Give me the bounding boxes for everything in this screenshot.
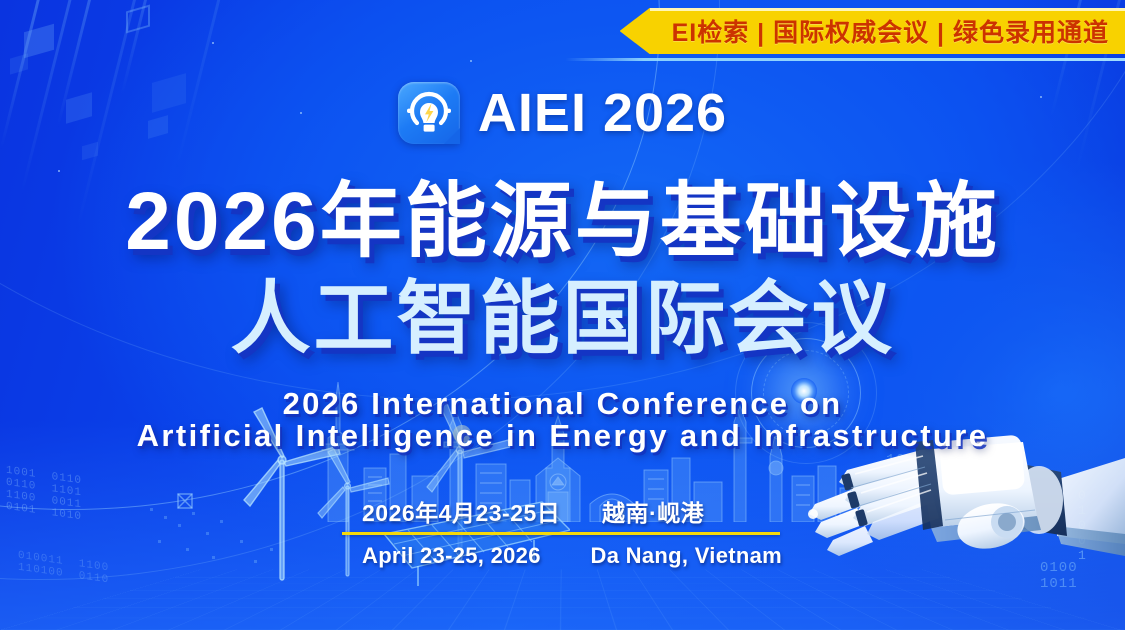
banner-content: AIEI 2026 2026年能源与基础设施 人工智能国际会议 2026 Int… bbox=[0, 0, 1125, 630]
date-location-block: 2026年4月23-25日 越南·岘港 April 23-25, 2026 Da… bbox=[342, 494, 782, 575]
aiei-logo-icon bbox=[398, 82, 460, 144]
location-chinese: 越南·岘港 bbox=[602, 500, 704, 526]
info-row-chinese: 2026年4月23-25日 越南·岘港 bbox=[342, 494, 782, 530]
ribbon-label: EI检索 | 国际权威会议 | 绿色录用通道 bbox=[672, 13, 1109, 49]
highlight-ribbon: EI检索 | 国际权威会议 | 绿色录用通道 bbox=[620, 8, 1125, 58]
place-cn-cell: 越南·岘港 bbox=[592, 494, 782, 528]
date-cn-cell: 2026年4月23-25日 bbox=[342, 494, 592, 528]
info-divider bbox=[342, 532, 780, 535]
date-english: April 23-25, 2026 bbox=[362, 543, 541, 568]
date-chinese: 2026年4月23-25日 bbox=[362, 500, 560, 526]
ribbon-body: EI检索 | 国际权威会议 | 绿色录用通道 bbox=[620, 8, 1125, 54]
chinese-title-line-1: 2026年能源与基础设施 bbox=[0, 174, 1125, 270]
ribbon-underline bbox=[565, 58, 1125, 61]
ribbon-top-highlight bbox=[650, 8, 1125, 11]
info-row-english: April 23-25, 2026 Da Nang, Vietnam bbox=[342, 537, 782, 575]
chinese-title-line-2: 人工智能国际会议 bbox=[0, 272, 1125, 366]
place-en-cell: Da Nang, Vietnam bbox=[581, 543, 782, 569]
english-title-line-1: 2026 International Conference on bbox=[0, 386, 1125, 422]
conference-banner: 1001 0110 0110 1101 1100 0011 0101 1010 … bbox=[0, 0, 1125, 630]
date-en-cell: April 23-25, 2026 bbox=[342, 543, 581, 569]
location-english: Da Nang, Vietnam bbox=[591, 543, 782, 568]
english-title-line-2: Artificial Intelligence in Energy and In… bbox=[0, 418, 1125, 454]
brand-title: AIEI 2026 bbox=[478, 82, 727, 144]
logo-row: AIEI 2026 bbox=[0, 82, 1125, 144]
